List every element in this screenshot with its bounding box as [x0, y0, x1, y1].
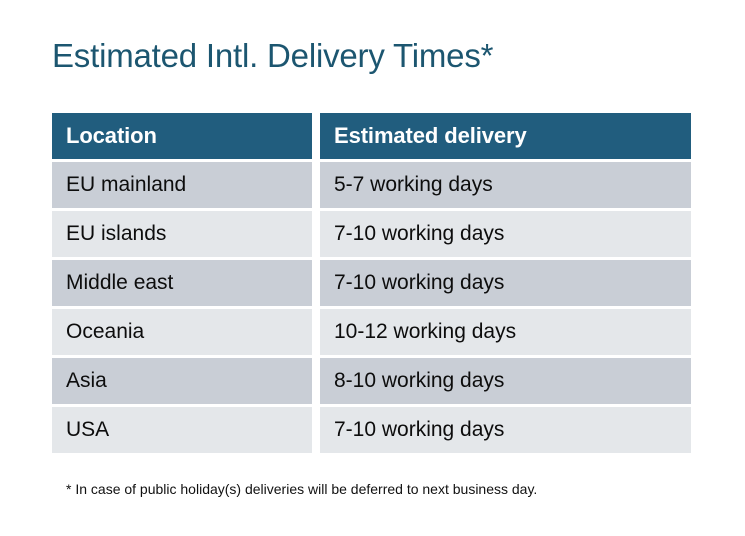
cell-estimated-delivery: 10-12 working days — [320, 309, 691, 355]
table-row: EU islands 7-10 working days — [52, 211, 691, 257]
table-row: Oceania 10-12 working days — [52, 309, 691, 355]
cell-estimated-delivery: 7-10 working days — [320, 211, 691, 257]
table-row: USA 7-10 working days — [52, 407, 691, 453]
table-header-row: Location Estimated delivery — [52, 113, 691, 159]
cell-estimated-delivery: 7-10 working days — [320, 407, 691, 453]
column-header-estimated-delivery: Estimated delivery — [320, 113, 691, 159]
cell-location: USA — [52, 407, 312, 453]
delivery-times-page: Estimated Intl. Delivery Times* Location… — [0, 0, 745, 536]
delivery-times-table: Location Estimated delivery EU mainland … — [52, 113, 691, 453]
page-title: Estimated Intl. Delivery Times* — [52, 36, 493, 76]
cell-location: EU islands — [52, 211, 312, 257]
cell-location: Oceania — [52, 309, 312, 355]
cell-estimated-delivery: 7-10 working days — [320, 260, 691, 306]
cell-estimated-delivery: 5-7 working days — [320, 162, 691, 208]
cell-location: EU mainland — [52, 162, 312, 208]
table-row: Middle east 7-10 working days — [52, 260, 691, 306]
cell-location: Asia — [52, 358, 312, 404]
table-row: Asia 8-10 working days — [52, 358, 691, 404]
cell-estimated-delivery: 8-10 working days — [320, 358, 691, 404]
footnote-text: * In case of public holiday(s) deliverie… — [66, 480, 537, 498]
column-header-location: Location — [52, 113, 312, 159]
table-row: EU mainland 5-7 working days — [52, 162, 691, 208]
cell-location: Middle east — [52, 260, 312, 306]
